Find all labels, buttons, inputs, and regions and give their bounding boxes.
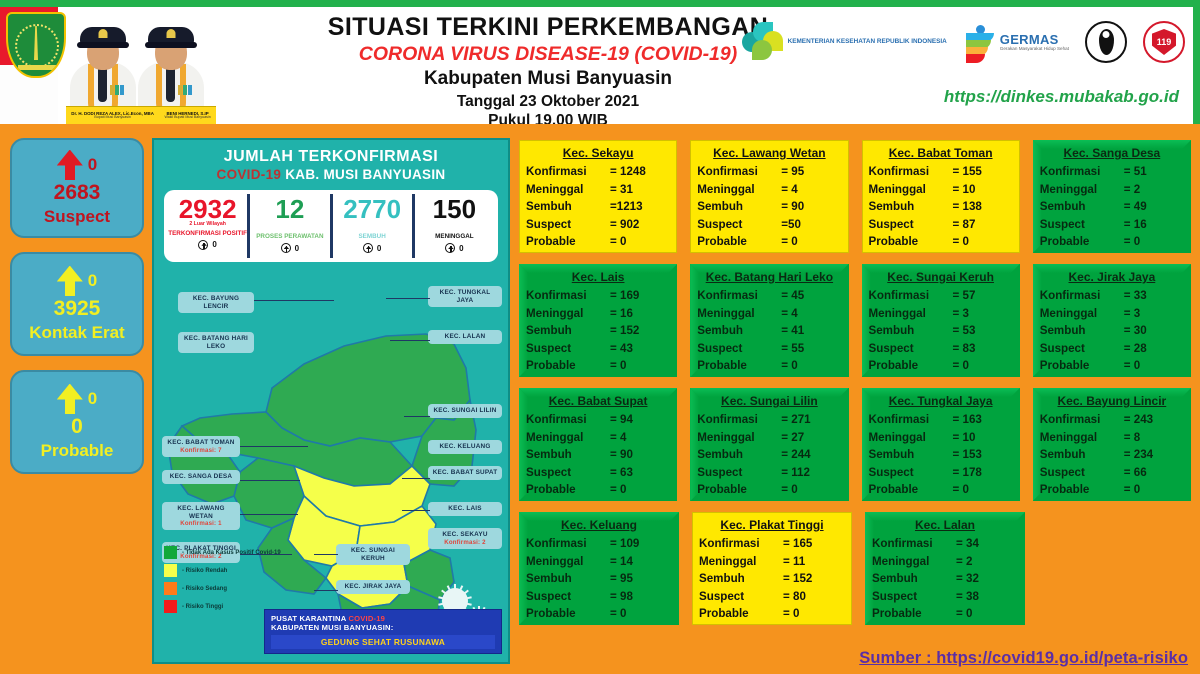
metric-label: Suspect bbox=[526, 216, 610, 234]
metric-label: Meninggal bbox=[697, 429, 781, 447]
map-label-text: KEC. BATANG HARI LEKO bbox=[182, 335, 250, 350]
map-label-lalan[interactable]: KEC. LALAN bbox=[428, 330, 502, 344]
district-card-lawang-wetan[interactable]: Kec. Lawang Wetan Konfirmasi= 95 Meningg… bbox=[690, 140, 848, 253]
metric-row: Suspect= 43 bbox=[526, 340, 670, 358]
metric-label: Konfirmasi bbox=[869, 163, 953, 181]
metric-row: Sembuh= 53 bbox=[869, 322, 1013, 340]
metric-row: Konfirmasi= 155 bbox=[869, 163, 1013, 181]
summary-meninggal[interactable]: 150 MENINGGAL 0 bbox=[412, 194, 494, 258]
arrow-up-circle-icon bbox=[198, 240, 208, 250]
map-label-sanga-desa[interactable]: KEC. SANGA DESA bbox=[162, 470, 240, 484]
summary-perawatan-value: 12 bbox=[250, 196, 329, 222]
district-card-sekayu[interactable]: Kec. Sekayu Konfirmasi= 1248 Meninggal= … bbox=[519, 140, 677, 253]
probable-label: Probable bbox=[41, 441, 114, 461]
metric-row: Konfirmasi= 95 bbox=[697, 163, 841, 181]
metric-value: = 95 bbox=[610, 570, 633, 588]
suspect-value: 2683 bbox=[54, 181, 101, 205]
metric-value: = 66 bbox=[1124, 464, 1147, 482]
district-name: Kec. Keluang bbox=[526, 516, 672, 535]
metric-label: Suspect bbox=[526, 340, 610, 358]
metric-row: Probable= 0 bbox=[869, 233, 1013, 251]
metric-value: = 83 bbox=[953, 340, 976, 358]
metric-value: = 0 bbox=[1124, 357, 1140, 375]
map-label-lawang-wetan[interactable]: KEC. LAWANG WETAN Konfirmasi: 1 bbox=[162, 502, 240, 530]
metric-row: Probable= 0 bbox=[526, 481, 670, 499]
map-label-sungai-lilin[interactable]: KEC. SUNGAI LILIN bbox=[428, 404, 502, 418]
metric-label: Sembuh bbox=[872, 570, 956, 588]
metric-value: = 4 bbox=[781, 305, 797, 323]
metric-value: = 33 bbox=[1124, 287, 1147, 305]
metric-row: Probable= 0 bbox=[1040, 481, 1184, 499]
metric-label: Suspect bbox=[869, 216, 953, 234]
metric-label: Sembuh bbox=[1040, 198, 1124, 216]
metric-label: Probable bbox=[869, 233, 953, 251]
metric-value: = 11 bbox=[783, 553, 805, 571]
metric-value: = 165 bbox=[783, 535, 812, 553]
arrow-up-circle-icon bbox=[445, 243, 455, 253]
map-legend: - Tidak Ada Kasus Positif Covid-19 - Ris… bbox=[164, 546, 281, 618]
metric-value: = 2 bbox=[956, 553, 972, 571]
map-label-keluang[interactable]: KEC. KELUANG bbox=[428, 440, 502, 454]
map-label-konfirmasi: Konfirmasi: 7 bbox=[166, 447, 236, 454]
metric-label: Suspect bbox=[1040, 464, 1124, 482]
map-label-text: KEC. JIRAK JAYA bbox=[340, 583, 406, 591]
metric-row: Konfirmasi= 34 bbox=[872, 535, 1018, 553]
metric-row: Meninggal= 4 bbox=[697, 181, 841, 199]
metric-row: Sembuh= 244 bbox=[697, 446, 841, 464]
legend-swatch bbox=[164, 546, 177, 559]
metric-row: Suspect= 28 bbox=[1040, 340, 1184, 358]
map-title-rest: KAB. MUSI BANYUASIN bbox=[281, 167, 445, 182]
suspect-delta: 0 bbox=[88, 155, 97, 175]
bpom-logo bbox=[1085, 21, 1127, 63]
hotline-119-logo: 119 bbox=[1143, 21, 1185, 63]
metric-value: = 90 bbox=[610, 446, 633, 464]
metric-label: Suspect bbox=[869, 340, 953, 358]
page-header: Dr. H. DODI REZA ALEX, Lic.Econ, MBA Bup… bbox=[0, 0, 1200, 124]
metric-value: = 32 bbox=[956, 570, 979, 588]
map-label-bayung-lencir[interactable]: KEC. BAYUNG LENCIR bbox=[178, 292, 254, 313]
metric-value: = 0 bbox=[953, 357, 969, 375]
metric-row: Suspect= 80 bbox=[699, 588, 845, 606]
district-name: Kec. Sekayu bbox=[526, 144, 670, 163]
map-panel-title: JUMLAH TERKONFIRMASI COVID-19 KAB. MUSI … bbox=[154, 140, 508, 182]
metric-row: Meninggal= 16 bbox=[526, 305, 670, 323]
metric-label: Sembuh bbox=[526, 198, 610, 216]
legend-item: - Risiko Rendah bbox=[164, 564, 281, 577]
suspect-label: Suspect bbox=[44, 207, 110, 227]
metric-row: Sembuh= 90 bbox=[526, 446, 670, 464]
metric-row: Sembuh= 41 bbox=[697, 322, 841, 340]
metric-row: Meninggal= 31 bbox=[526, 181, 670, 199]
metric-label: Konfirmasi bbox=[697, 411, 781, 429]
metric-row: Sembuh= 30 bbox=[1040, 322, 1184, 340]
header-logos: KEMENTERIAN KESEHATAN REPUBLIK INDONESIA… bbox=[742, 15, 1185, 69]
metric-row: Probable= 0 bbox=[699, 605, 845, 623]
map-label-text: KEC. SANGA DESA bbox=[166, 473, 236, 481]
metric-value: = 138 bbox=[953, 198, 982, 216]
legend-label: - Risiko Tinggi bbox=[182, 604, 223, 610]
metric-row: Konfirmasi= 57 bbox=[869, 287, 1013, 305]
quarantine-line-2: KABUPATEN MUSI BANYUASIN: bbox=[271, 623, 495, 632]
leader-line bbox=[254, 300, 334, 301]
map-label-konfirmasi: Konfirmasi: 2 bbox=[432, 539, 498, 546]
metric-label: Suspect bbox=[697, 216, 781, 234]
metric-value: = 0 bbox=[781, 357, 797, 375]
map-label-babat-supat[interactable]: KEC. BABAT SUPAT bbox=[428, 466, 502, 480]
metric-label: Probable bbox=[869, 357, 953, 375]
title-line-3: Kabupaten Musi Banyuasin bbox=[228, 68, 868, 90]
summary-konfirmasi-delta-row: 0 bbox=[168, 240, 247, 250]
metric-value: = 51 bbox=[1124, 163, 1147, 181]
map-label-sungai-keruh[interactable]: KEC. SUNGAI KERUH bbox=[336, 544, 410, 565]
metric-label: Suspect bbox=[869, 464, 953, 482]
metric-value: = 90 bbox=[781, 198, 804, 216]
map-label-text: KEC. LALAN bbox=[432, 333, 498, 341]
summary-sembuh-delta-row: 0 bbox=[333, 243, 412, 253]
metric-value: = 94 bbox=[610, 411, 633, 429]
district-card-lalan[interactable]: Kec. Lalan Konfirmasi= 34 Meninggal= 2 S… bbox=[865, 512, 1025, 625]
metric-row: Meninggal= 3 bbox=[869, 305, 1013, 323]
summary-meninggal-delta-row: 0 bbox=[415, 243, 494, 253]
metric-value: = 112 bbox=[781, 464, 810, 482]
leader-line bbox=[402, 510, 430, 511]
metric-value: = 49 bbox=[1124, 198, 1147, 216]
metric-label: Probable bbox=[697, 481, 781, 499]
metric-value: = 41 bbox=[781, 322, 804, 340]
metric-label: Sembuh bbox=[1040, 322, 1124, 340]
map-label-jirak-jaya[interactable]: KEC. JIRAK JAYA bbox=[336, 580, 410, 594]
map-label-sekayu[interactable]: KEC. SEKAYU Konfirmasi: 2 bbox=[428, 528, 502, 549]
legend-item: - Tidak Ada Kasus Positif Covid-19 bbox=[164, 546, 281, 559]
metric-label: Probable bbox=[526, 233, 610, 251]
summary-konfirmasi-delta: 0 bbox=[212, 240, 216, 249]
district-card-keluang[interactable]: Kec. Keluang Konfirmasi= 109 Meninggal= … bbox=[519, 512, 679, 625]
metric-value: = 0 bbox=[956, 605, 972, 623]
metric-value: = 0 bbox=[953, 233, 969, 251]
metric-row: Konfirmasi= 169 bbox=[526, 287, 670, 305]
metric-row: Meninggal= 10 bbox=[869, 429, 1013, 447]
card-row: Kec. Keluang Konfirmasi= 109 Meninggal= … bbox=[519, 512, 1191, 625]
metric-label: Probable bbox=[526, 481, 610, 499]
metric-label: Konfirmasi bbox=[869, 287, 953, 305]
metric-value: = 3 bbox=[1124, 305, 1140, 323]
metric-label: Suspect bbox=[526, 588, 610, 606]
metric-value: = 27 bbox=[781, 429, 804, 447]
metric-value: = 0 bbox=[1124, 481, 1140, 499]
metric-row: Meninggal= 4 bbox=[697, 305, 841, 323]
metric-row: Meninggal= 4 bbox=[526, 429, 670, 447]
metric-row: Probable= 0 bbox=[526, 605, 672, 623]
metric-row: Konfirmasi= 94 bbox=[526, 411, 670, 429]
district-card-plakat-tinggi[interactable]: Kec. Plakat Tinggi Konfirmasi= 165 Menin… bbox=[692, 512, 852, 625]
metric-row: Konfirmasi= 243 bbox=[1040, 411, 1184, 429]
regency-crest-icon bbox=[6, 12, 66, 78]
metric-row: Sembuh= 90 bbox=[697, 198, 841, 216]
metric-label: Konfirmasi bbox=[1040, 287, 1124, 305]
stat-card-suspect[interactable]: 0 2683 Suspect bbox=[10, 138, 144, 238]
metric-value: = 43 bbox=[610, 340, 633, 358]
district-name: Kec. Tungkal Jaya bbox=[869, 392, 1013, 411]
metric-row: Sembuh= 32 bbox=[872, 570, 1018, 588]
map-label-batang-hari-leko[interactable]: KEC. BATANG HARI LEKO bbox=[178, 332, 254, 353]
germas-logo: GERMAS Gerakan Masyarakat Hidup Sehat bbox=[963, 24, 1069, 60]
metric-label: Meninggal bbox=[526, 553, 610, 571]
metric-value: = 8 bbox=[1124, 429, 1140, 447]
metric-value: = 178 bbox=[953, 464, 982, 482]
metric-row: Suspect=50 bbox=[697, 216, 841, 234]
probable-delta: 0 bbox=[88, 389, 97, 409]
metric-label: Probable bbox=[869, 481, 953, 499]
metric-row: Suspect= 55 bbox=[697, 340, 841, 358]
district-name: Kec. Babat Supat bbox=[526, 392, 670, 411]
metric-label: Meninggal bbox=[526, 181, 610, 199]
metric-value: = 57 bbox=[953, 287, 976, 305]
metric-label: Suspect bbox=[697, 464, 781, 482]
summary-perawatan[interactable]: 12 PROSES PERAWATAN 0 bbox=[247, 194, 329, 258]
metric-value: = 10 bbox=[953, 429, 976, 447]
metric-label: Meninggal bbox=[526, 429, 610, 447]
metric-label: Probable bbox=[697, 233, 781, 251]
kontak-erat-delta: 0 bbox=[88, 271, 97, 291]
metric-value: =1213 bbox=[610, 198, 643, 216]
metric-row: Konfirmasi= 165 bbox=[699, 535, 845, 553]
district-name: Kec. Sungai Keruh bbox=[869, 268, 1013, 287]
map-label-text: KEC. SUNGAI LILIN bbox=[432, 407, 498, 415]
metric-value: = 244 bbox=[781, 446, 810, 464]
map-label-babat-toman[interactable]: KEC. BABAT TOMAN Konfirmasi: 7 bbox=[162, 436, 240, 457]
quarantine-text-covid: COVID-19 bbox=[348, 614, 385, 623]
metric-row: Probable= 0 bbox=[872, 605, 1018, 623]
card-row: Kec. Lais Konfirmasi= 169 Meninggal= 16 … bbox=[519, 264, 1191, 377]
metric-label: Meninggal bbox=[1040, 429, 1124, 447]
district-card-babat-toman[interactable]: Kec. Babat Toman Konfirmasi= 155 Meningg… bbox=[862, 140, 1020, 253]
metric-row: Suspect= 87 bbox=[869, 216, 1013, 234]
district-card-babat-supat[interactable]: Kec. Babat Supat Konfirmasi= 94 Meningga… bbox=[519, 388, 677, 501]
metric-value: = 243 bbox=[1124, 411, 1153, 429]
district-name: Kec. Batang Hari Leko bbox=[697, 268, 841, 287]
metric-label: Meninggal bbox=[526, 305, 610, 323]
district-name: Kec. Plakat Tinggi bbox=[699, 516, 845, 535]
metric-row: Konfirmasi= 33 bbox=[1040, 287, 1184, 305]
summary-konfirmasi[interactable]: 2932 2 Luar Wilayah TERKONFIRMASI POSITI… bbox=[168, 194, 247, 258]
summary-perawatan-delta: 0 bbox=[295, 244, 299, 253]
title-date: Tanggal 23 Oktober 2021 bbox=[228, 93, 868, 111]
quarantine-info-box: PUSAT KARANTINA COVID-19 KABUPATEN MUSI … bbox=[264, 609, 502, 654]
arrow-up-icon bbox=[57, 266, 83, 296]
map-label-text: KEC. SEKAYU bbox=[432, 531, 498, 539]
metric-value: = 3 bbox=[953, 305, 969, 323]
metric-label: Sembuh bbox=[697, 446, 781, 464]
kemenkes-logo-text: KEMENTERIAN KESEHATAN REPUBLIK INDONESIA bbox=[788, 38, 947, 46]
metric-label: Konfirmasi bbox=[697, 163, 781, 181]
metric-label: Meninggal bbox=[697, 181, 781, 199]
metric-row: Suspect= 66 bbox=[1040, 464, 1184, 482]
metric-value: = 31 bbox=[610, 181, 633, 199]
district-card-jirak-jaya[interactable]: Kec. Jirak Jaya Konfirmasi= 33 Meninggal… bbox=[1033, 264, 1191, 377]
summary-sembuh-delta: 0 bbox=[377, 244, 381, 253]
kemenkes-logo: KEMENTERIAN KESEHATAN REPUBLIK INDONESIA bbox=[742, 22, 947, 62]
metric-row: Probable= 0 bbox=[697, 357, 841, 375]
district-cards-grid: Kec. Sekayu Konfirmasi= 1248 Meninggal= … bbox=[519, 140, 1191, 636]
metric-label: Meninggal bbox=[697, 305, 781, 323]
map-label-lais[interactable]: KEC. LAIS bbox=[428, 502, 502, 516]
germas-logo-text: GERMAS bbox=[1000, 33, 1069, 46]
map-label-text: KEC. TUNGKAL JAYA bbox=[432, 289, 498, 304]
district-card-tungkal-jaya[interactable]: Kec. Tungkal Jaya Konfirmasi= 163 Mening… bbox=[862, 388, 1020, 501]
metric-row: Meninggal= 3 bbox=[1040, 305, 1184, 323]
metric-row: Sembuh= 234 bbox=[1040, 446, 1184, 464]
metric-label: Konfirmasi bbox=[869, 411, 953, 429]
metric-value: = 63 bbox=[610, 464, 633, 482]
title-time: Pukul 19.00 WIB bbox=[228, 112, 868, 124]
metric-row: Konfirmasi= 271 bbox=[697, 411, 841, 429]
metric-row: Suspect= 38 bbox=[872, 588, 1018, 606]
metric-value: = 16 bbox=[1124, 216, 1147, 234]
metric-row: Sembuh= 49 bbox=[1040, 198, 1184, 216]
leader-line bbox=[314, 554, 338, 555]
metric-value: = 14 bbox=[610, 553, 633, 571]
district-name: Kec. Sanga Desa bbox=[1040, 144, 1184, 163]
arrow-up-icon bbox=[57, 150, 83, 180]
district-card-sungai-lilin[interactable]: Kec. Sungai Lilin Konfirmasi= 271 Mening… bbox=[690, 388, 848, 501]
map-label-text: KEC. BAYUNG LENCIR bbox=[182, 295, 250, 310]
summary-meninggal-delta: 0 bbox=[459, 244, 463, 253]
stat-card-kontak-erat[interactable]: 0 3925 Kontak Erat bbox=[10, 252, 144, 356]
metric-row: Probable= 0 bbox=[869, 357, 1013, 375]
hotline-119-text: 119 bbox=[1152, 29, 1176, 55]
header-left-graphic: Dr. H. DODI REZA ALEX, Lic.Econ, MBA Bup… bbox=[0, 7, 210, 124]
metric-label: Probable bbox=[1040, 357, 1124, 375]
legend-label: - Risiko Sedang bbox=[182, 586, 227, 592]
district-card-lais[interactable]: Kec. Lais Konfirmasi= 169 Meninggal= 16 … bbox=[519, 264, 677, 377]
summary-meninggal-value: 150 bbox=[415, 196, 494, 222]
legend-label: - Tidak Ada Kasus Positif Covid-19 bbox=[182, 550, 281, 556]
district-card-sungai-keruh[interactable]: Kec. Sungai Keruh Konfirmasi= 57 Meningg… bbox=[862, 264, 1020, 377]
metric-value: = 1248 bbox=[610, 163, 646, 181]
map-label-text: KEC. KELUANG bbox=[432, 443, 498, 451]
metric-value: = 10 bbox=[953, 181, 976, 199]
quarantine-text-a: PUSAT KARANTINA bbox=[271, 614, 348, 623]
district-name: Kec. Lalan bbox=[872, 516, 1018, 535]
metric-row: Meninggal= 2 bbox=[872, 553, 1018, 571]
metric-row: Konfirmasi= 109 bbox=[526, 535, 672, 553]
district-card-batang-hari-leko[interactable]: Kec. Batang Hari Leko Konfirmasi= 45 Men… bbox=[690, 264, 848, 377]
leader-line bbox=[314, 590, 338, 591]
metric-value: = 234 bbox=[1124, 446, 1153, 464]
map-label-text: KEC. SUNGAI KERUH bbox=[340, 547, 406, 562]
metric-row: Meninggal= 8 bbox=[1040, 429, 1184, 447]
metric-row: Konfirmasi= 51 bbox=[1040, 163, 1184, 181]
map-title-line-2: COVID-19 KAB. MUSI BANYUASIN bbox=[154, 167, 508, 182]
metric-row: Konfirmasi= 45 bbox=[697, 287, 841, 305]
metric-row: Suspect= 902 bbox=[526, 216, 670, 234]
district-name: Kec. Sungai Lilin bbox=[697, 392, 841, 411]
metric-value: = 53 bbox=[953, 322, 976, 340]
metric-label: Meninggal bbox=[1040, 181, 1124, 199]
metric-value: = 152 bbox=[783, 570, 812, 588]
metric-value: = 0 bbox=[610, 357, 626, 375]
legend-swatch bbox=[164, 564, 177, 577]
metric-row: Probable= 0 bbox=[526, 357, 670, 375]
leader-line bbox=[240, 446, 308, 447]
metric-value: = 271 bbox=[781, 411, 810, 429]
metric-label: Probable bbox=[1040, 233, 1124, 251]
metric-value: = 153 bbox=[953, 446, 982, 464]
metric-value: = 98 bbox=[610, 588, 633, 606]
metric-row: Suspect= 63 bbox=[526, 464, 670, 482]
metric-value: = 0 bbox=[783, 605, 799, 623]
metric-value: = 95 bbox=[781, 163, 804, 181]
metric-value: = 87 bbox=[953, 216, 976, 234]
website-url[interactable]: https://dinkes.mubakab.go.id bbox=[944, 87, 1179, 107]
metric-label: Meninggal bbox=[869, 305, 953, 323]
map-label-text: KEC. LAWANG WETAN bbox=[166, 505, 236, 520]
metric-label: Sembuh bbox=[526, 570, 610, 588]
metric-label: Sembuh bbox=[526, 446, 610, 464]
district-card-bayung-lincir[interactable]: Kec. Bayung Lincir Konfirmasi= 243 Menin… bbox=[1033, 388, 1191, 501]
metric-value: = 0 bbox=[953, 481, 969, 499]
metric-row: Konfirmasi= 1248 bbox=[526, 163, 670, 181]
metric-label: Konfirmasi bbox=[526, 535, 610, 553]
metric-row: Meninggal= 10 bbox=[869, 181, 1013, 199]
probable-value: 0 bbox=[71, 415, 83, 439]
leader-line bbox=[240, 514, 298, 515]
metric-label: Sembuh bbox=[869, 322, 953, 340]
metric-row: Sembuh= 138 bbox=[869, 198, 1013, 216]
metric-row: Sembuh= 153 bbox=[869, 446, 1013, 464]
metric-label: Konfirmasi bbox=[526, 411, 610, 429]
map-panel: JUMLAH TERKONFIRMASI COVID-19 KAB. MUSI … bbox=[152, 138, 510, 664]
metric-label: Konfirmasi bbox=[1040, 411, 1124, 429]
metric-label: Suspect bbox=[1040, 340, 1124, 358]
official-role-2: Wakil Bupati Musi Banyuasin bbox=[164, 116, 210, 120]
metric-label: Sembuh bbox=[526, 322, 610, 340]
metric-label: Sembuh bbox=[697, 322, 781, 340]
metric-row: Meninggal= 27 bbox=[697, 429, 841, 447]
metric-label: Meninggal bbox=[869, 181, 953, 199]
kontak-erat-value: 3925 bbox=[54, 297, 101, 321]
map-label-tungkal-jaya[interactable]: KEC. TUNGKAL JAYA bbox=[428, 286, 502, 307]
metric-label: Sembuh bbox=[697, 198, 781, 216]
metric-label: Meninggal bbox=[699, 553, 783, 571]
metric-row: Konfirmasi= 163 bbox=[869, 411, 1013, 429]
metric-value: = 0 bbox=[1124, 233, 1140, 251]
metric-value: = 55 bbox=[781, 340, 804, 358]
district-name: Kec. Bayung Lincir bbox=[1040, 392, 1184, 411]
source-link[interactable]: Sumber : https://covid19.go.id/peta-risi… bbox=[859, 649, 1188, 668]
metric-label: Probable bbox=[872, 605, 956, 623]
map-label-text: KEC. LAIS bbox=[432, 505, 498, 513]
metric-label: Suspect bbox=[526, 464, 610, 482]
legend-swatch bbox=[164, 582, 177, 595]
officials-nameplate: Dr. H. DODI REZA ALEX, Lic.Econ, MBA Bup… bbox=[66, 106, 216, 124]
map-label-text: KEC. BABAT SUPAT bbox=[432, 469, 498, 477]
metric-value: = 38 bbox=[956, 588, 979, 606]
leader-line bbox=[404, 416, 430, 417]
metric-value: = 4 bbox=[610, 429, 626, 447]
metric-row: Sembuh= 152 bbox=[526, 322, 670, 340]
metric-label: Konfirmasi bbox=[1040, 163, 1124, 181]
metric-label: Suspect bbox=[872, 588, 956, 606]
summary-sembuh[interactable]: 2770 SEMBUH 0 bbox=[330, 194, 412, 258]
district-card-sanga-desa[interactable]: Kec. Sanga Desa Konfirmasi= 51 Meninggal… bbox=[1033, 140, 1191, 253]
leader-line bbox=[240, 480, 300, 481]
metric-row: Sembuh= 95 bbox=[526, 570, 672, 588]
summary-meninggal-label: MENINGGAL bbox=[415, 233, 494, 240]
metric-value: = 0 bbox=[781, 481, 797, 499]
stat-card-probable[interactable]: 0 0 Probable bbox=[10, 370, 144, 474]
